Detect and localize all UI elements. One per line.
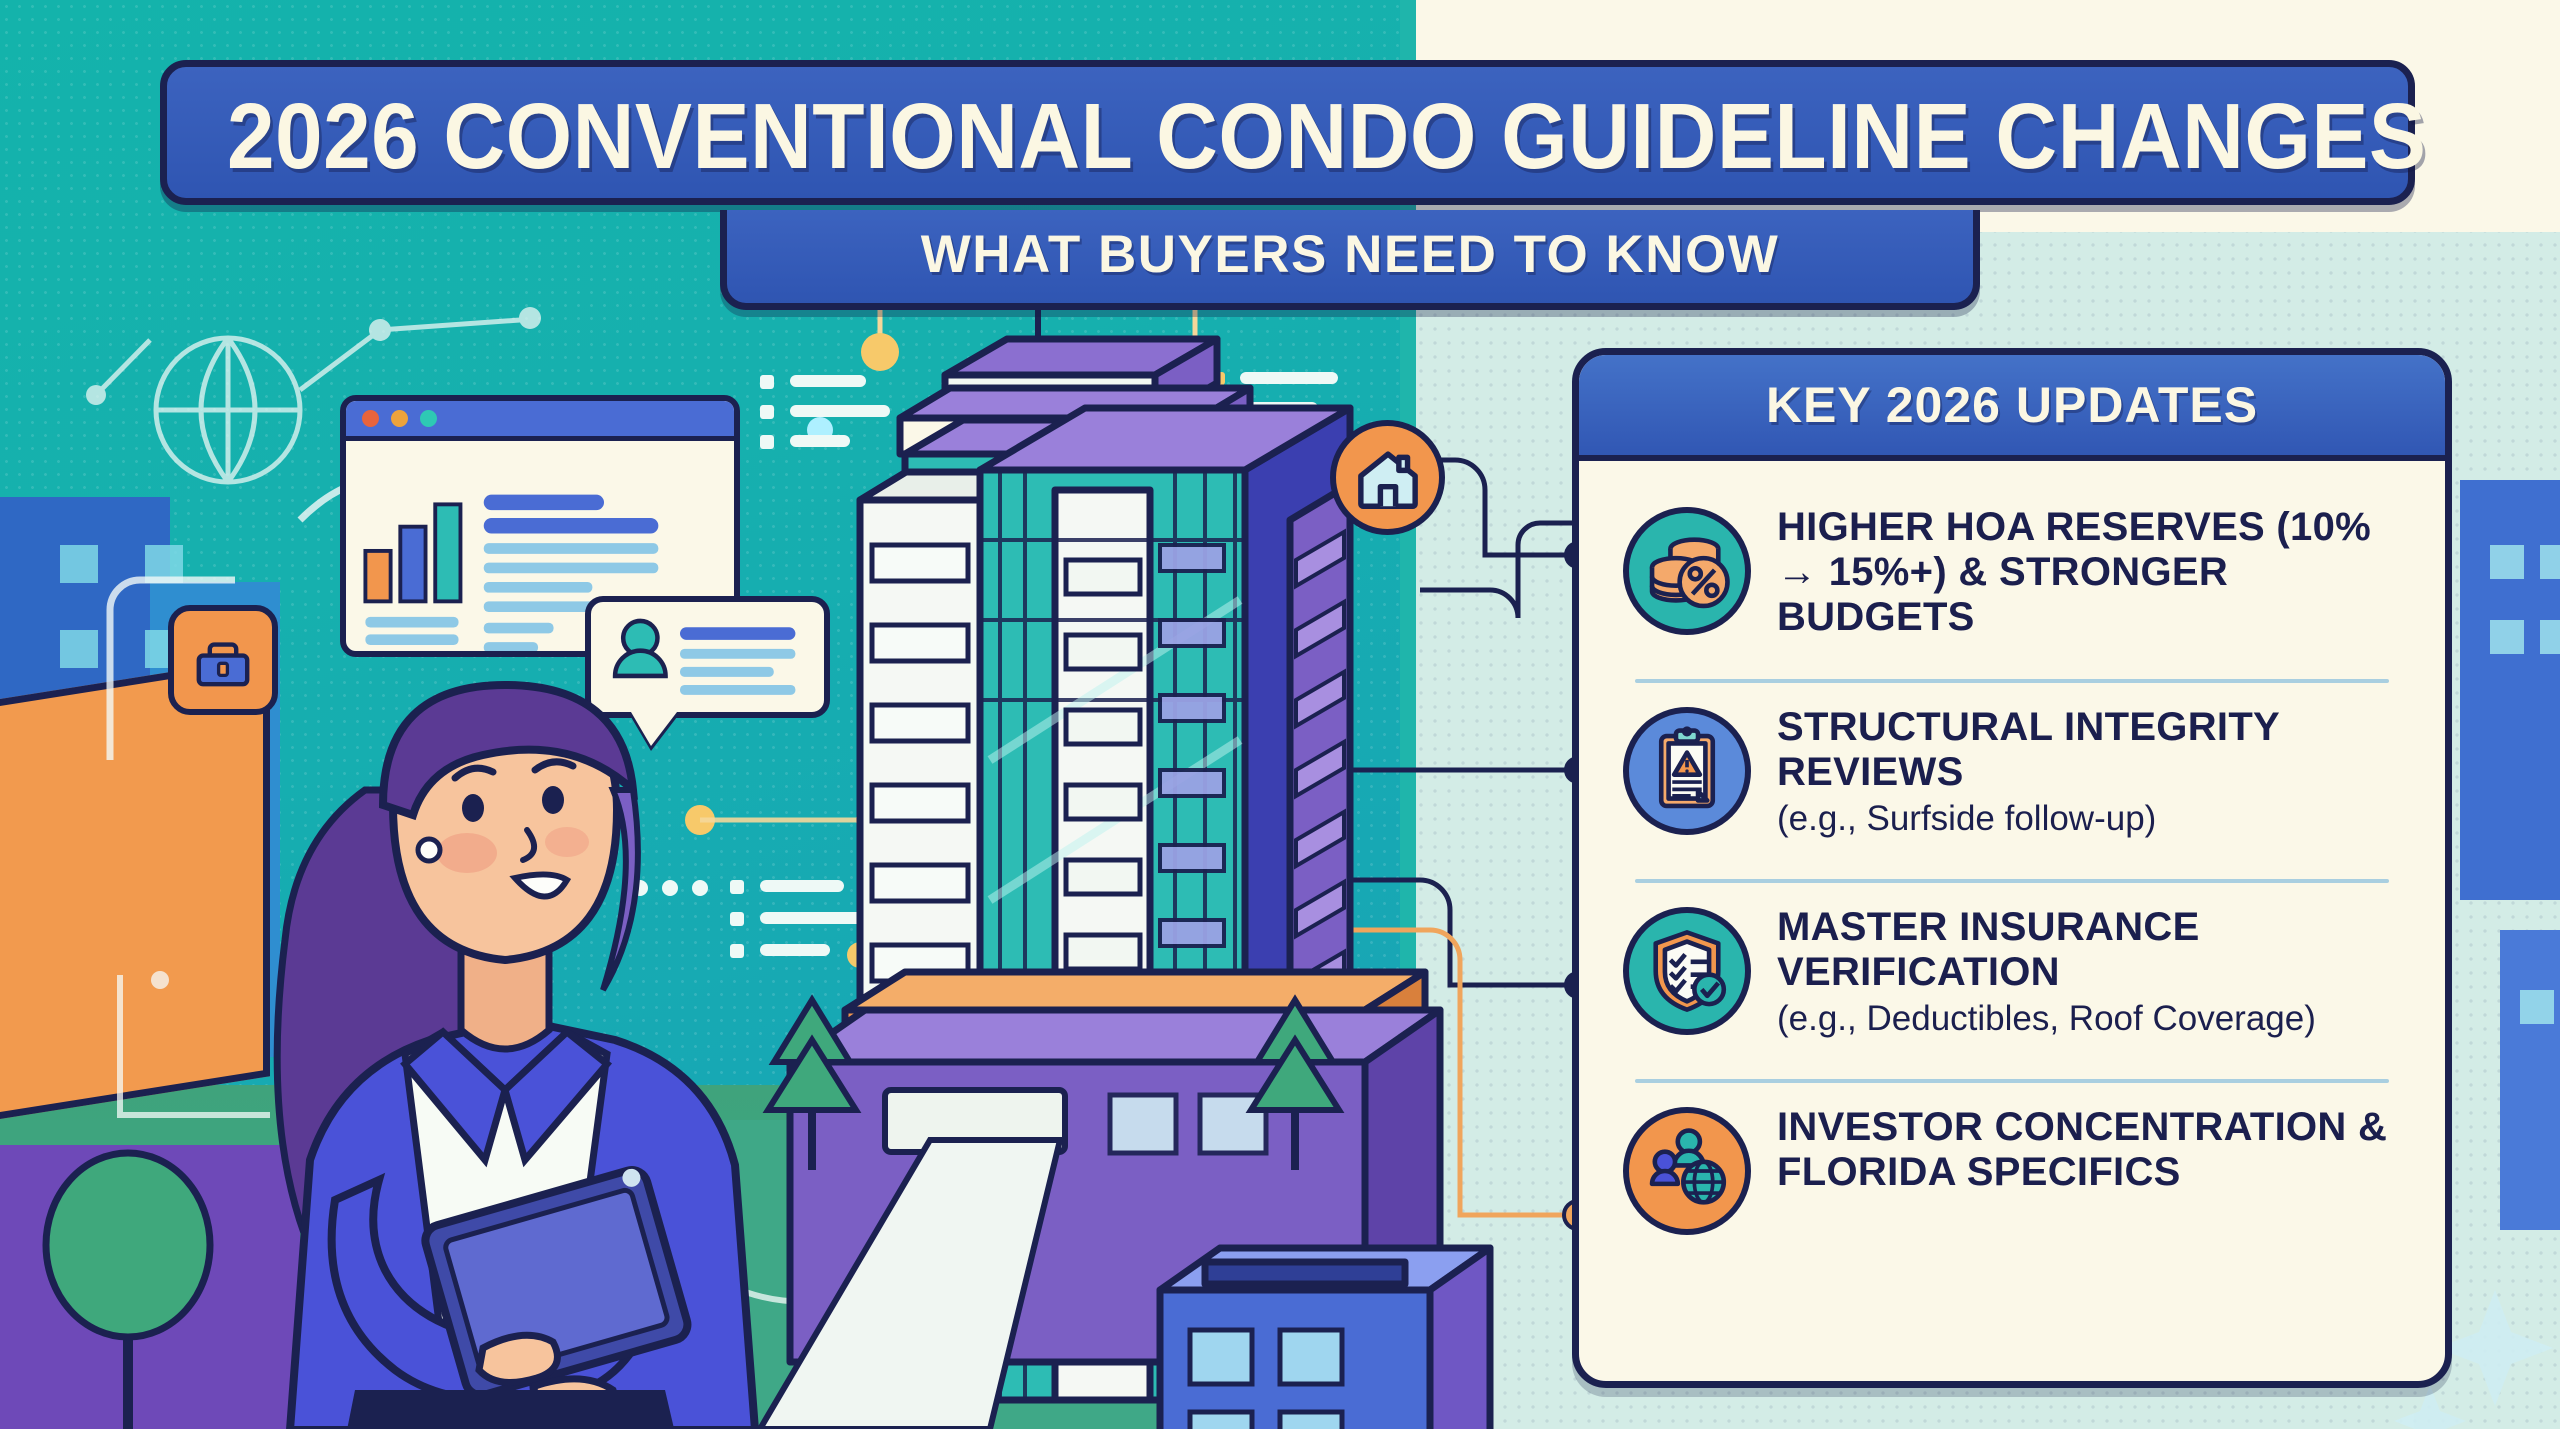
background-building-right-1 xyxy=(2460,480,2560,900)
browser-titlebar xyxy=(346,401,734,441)
traffic-light-maximize-icon xyxy=(420,410,437,427)
list-item-text: MASTER INSURANCE VERIFICATION (e.g., Ded… xyxy=(1777,899,2411,1040)
list-item-subtitle: (e.g., Surfside follow-up) xyxy=(1777,798,2411,839)
coins-percent-icon xyxy=(1623,507,1751,635)
title-banner-bar: 2026 CONVENTIONAL CONDO GUIDELINE CHANGE… xyxy=(160,60,2415,205)
list-item-title: HIGHER HOA RESERVES (10% → 15%+) & STRON… xyxy=(1777,505,2411,641)
list-item-text: INVESTOR CONCENTRATION & FLORIDA SPECIFI… xyxy=(1777,1099,2411,1198)
list-item-text: HIGHER HOA RESERVES (10% → 15%+) & STRON… xyxy=(1777,499,2411,644)
list-item-title: INVESTOR CONCENTRATION & FLORIDA SPECIFI… xyxy=(1777,1105,2411,1195)
background-building-right-2 xyxy=(2500,930,2560,1230)
bar-c xyxy=(435,504,460,601)
window-block xyxy=(2540,620,2560,654)
window-block xyxy=(60,545,98,583)
people-globe-icon xyxy=(1623,1107,1751,1235)
panel-header: KEY 2026 UPDATES xyxy=(1579,355,2445,461)
home-icon xyxy=(1330,420,1445,535)
window-block xyxy=(2490,545,2524,579)
window-block xyxy=(145,545,183,583)
title-banner: 2026 CONVENTIONAL CONDO GUIDELINE CHANGE… xyxy=(160,60,2415,205)
list-item[interactable]: MASTER INSURANCE VERIFICATION (e.g., Ded… xyxy=(1579,883,2445,1079)
bar-b xyxy=(400,527,425,602)
list-item[interactable]: INVESTOR CONCENTRATION & FLORIDA SPECIFI… xyxy=(1579,1083,2445,1279)
key-updates-panel: KEY 2026 UPDATES xyxy=(1572,348,2452,1388)
window-block xyxy=(2540,545,2560,579)
list-item-text: STRUCTURAL INTEGRITY REVIEWS (e.g., Surf… xyxy=(1777,699,2411,840)
traffic-light-minimize-icon xyxy=(391,410,408,427)
window-block xyxy=(2490,620,2524,654)
window-block xyxy=(2520,990,2554,1024)
shield-check-icon xyxy=(1623,907,1751,1035)
panel-body: HIGHER HOA RESERVES (10% → 15%+) & STRON… xyxy=(1579,461,2445,1279)
infographic-canvas: 2026 CONVENTIONAL CONDO GUIDELINE CHANGE… xyxy=(0,0,2560,1429)
list-item-title: MASTER INSURANCE VERIFICATION xyxy=(1777,905,2411,995)
list-item[interactable]: STRUCTURAL INTEGRITY REVIEWS (e.g., Surf… xyxy=(1579,683,2445,879)
page-subtitle: WHAT BUYERS NEED TO KNOW xyxy=(727,224,1973,285)
real-estate-agent-figure xyxy=(215,600,775,1429)
subtitle-banner-bar: WHAT BUYERS NEED TO KNOW xyxy=(720,210,1980,310)
traffic-light-close-icon xyxy=(362,410,379,427)
panel-title: KEY 2026 UPDATES xyxy=(1766,376,2258,434)
bar-a xyxy=(365,551,390,601)
list-item[interactable]: HIGHER HOA RESERVES (10% → 15%+) & STRON… xyxy=(1579,483,2445,679)
list-item-subtitle: (e.g., Deductibles, Roof Coverage) xyxy=(1777,998,2411,1039)
list-item-title: STRUCTURAL INTEGRITY REVIEWS xyxy=(1777,705,2411,795)
window-block xyxy=(60,630,98,668)
page-title: 2026 CONVENTIONAL CONDO GUIDELINE CHANGE… xyxy=(227,89,2197,184)
clipboard-warning-icon xyxy=(1623,707,1751,835)
